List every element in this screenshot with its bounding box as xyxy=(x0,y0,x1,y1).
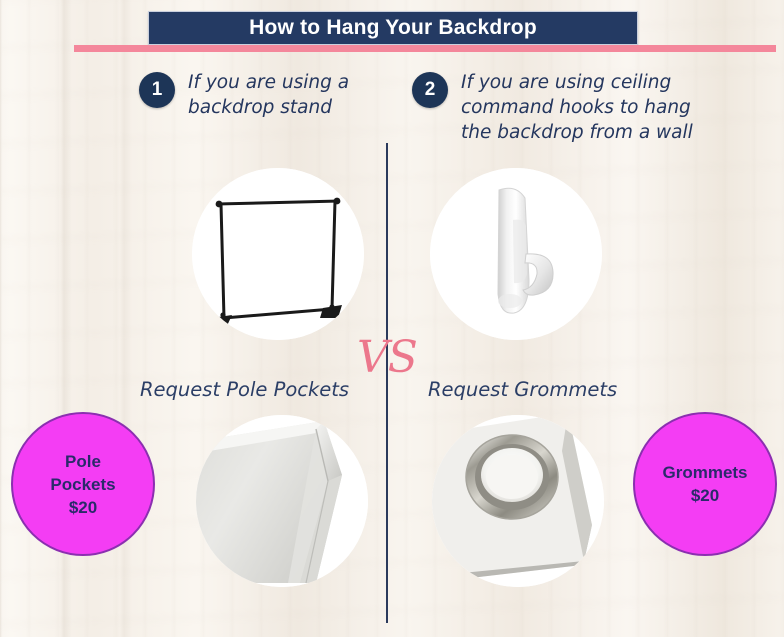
folded-fabric-pole-pocket-icon xyxy=(196,415,368,587)
badge-right-line-1: Grommets xyxy=(662,461,747,484)
step-2-header: 2 If you are using ceiling command hooks… xyxy=(412,70,742,145)
price-badge-pole-pockets[interactable]: Pole Pockets $20 xyxy=(11,412,155,556)
step-2-text: If you are using ceiling command hooks t… xyxy=(461,70,693,145)
step-2-line-1: If you are using ceiling xyxy=(461,70,693,95)
step-1-text: If you are using a backdrop stand xyxy=(188,70,349,120)
badge-left-line-1: Pole xyxy=(65,450,101,473)
caption-pole-pockets: Request Pole Pockets xyxy=(140,378,349,401)
badge-right-price: $20 xyxy=(691,484,719,507)
vertical-divider xyxy=(386,143,388,623)
step-1-header: 1 If you are using a backdrop stand xyxy=(139,70,384,120)
step-1-line-1: If you are using a xyxy=(188,70,349,95)
step-2-line-2: command hooks to hang xyxy=(461,95,693,120)
caption-grommets: Request Grommets xyxy=(428,378,617,401)
grommet-photo xyxy=(432,415,604,587)
step-1-line-2: backdrop stand xyxy=(188,95,349,120)
backdrop-stand-photo xyxy=(192,168,364,340)
backdrop-stand-icon xyxy=(192,168,364,340)
command-hook-photo xyxy=(430,168,602,340)
price-badge-grommets[interactable]: Grommets $20 xyxy=(633,412,777,556)
versus-label: VS xyxy=(347,332,427,383)
infographic-canvas: How to Hang Your Backdrop 1 If you are u… xyxy=(0,0,784,637)
step-2-number-badge: 2 xyxy=(412,72,448,108)
page-title: How to Hang Your Backdrop xyxy=(249,16,537,40)
pole-pocket-fabric-photo xyxy=(196,415,368,587)
title-banner: How to Hang Your Backdrop xyxy=(148,11,638,45)
badge-left-line-2: Pockets xyxy=(50,473,115,496)
step-2-line-3: the backdrop from a wall xyxy=(461,120,693,145)
pink-divider-rule xyxy=(74,45,776,52)
step-1-number-badge: 1 xyxy=(139,72,175,108)
command-hook-icon xyxy=(430,168,602,340)
badge-left-price: $20 xyxy=(69,496,97,519)
metal-grommet-icon xyxy=(432,415,604,587)
